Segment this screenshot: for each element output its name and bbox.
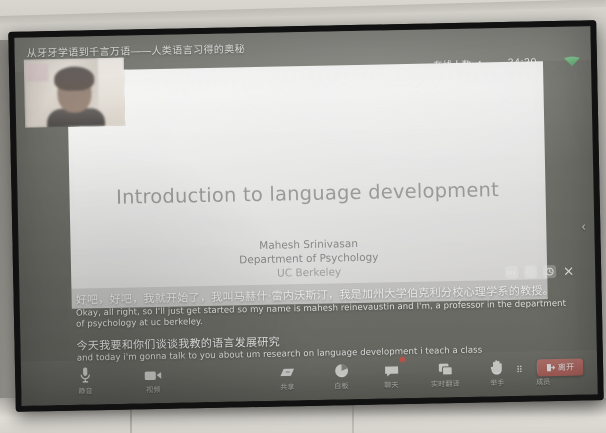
participant-video-tile[interactable] bbox=[24, 58, 125, 128]
settings-gear-icon[interactable] bbox=[524, 265, 537, 278]
close-icon[interactable] bbox=[562, 265, 575, 278]
subtitle-size-icon[interactable] bbox=[505, 266, 518, 279]
toolbar-label: 聊天 bbox=[363, 380, 419, 391]
gear-glyph bbox=[526, 267, 535, 276]
toolbar-label: 视频 bbox=[125, 385, 181, 396]
toolbar-label: 静音 bbox=[57, 386, 113, 397]
screen: 从牙牙学语到千言万语——人类语言习得的奥秘 在线人数: 4 34:30 Intr… bbox=[14, 26, 597, 405]
subtitle-size-glyph bbox=[507, 269, 516, 275]
video-overlay bbox=[24, 58, 125, 128]
caption-toolbar bbox=[505, 265, 575, 279]
slide-title: Introduction to language development bbox=[69, 177, 545, 210]
history-clock-icon[interactable] bbox=[543, 265, 556, 278]
meeting-title: 从牙牙学语到千言万语——人类语言习得的奥秘 bbox=[27, 40, 246, 59]
slide-subtitle-block: Mahesh Srinivasan Department of Psycholo… bbox=[70, 233, 547, 285]
wall-seam bbox=[352, 404, 354, 433]
clock-glyph bbox=[545, 267, 554, 276]
toolbar-label: 成员 bbox=[515, 377, 571, 388]
toolbar-label: 共享 bbox=[259, 382, 315, 393]
close-glyph bbox=[564, 267, 573, 276]
toolbar-label: 白板 bbox=[313, 381, 369, 392]
resize-handle-icon[interactable]: ⠿ bbox=[516, 365, 525, 374]
monitor: Rodleaf 从牙牙学语到千言万语——人类语言习得的奥秘 在线人数: 4 34… bbox=[8, 20, 604, 412]
live-caption-panel[interactable]: 好吧，好吧，我就开始了，我叫马赫什·雷内沃斯汀，我是加州大学伯克利分校心理学系的… bbox=[67, 279, 577, 381]
toolbar-label: 实时翻译 bbox=[417, 379, 473, 390]
wifi-icon bbox=[563, 55, 581, 68]
chevron-left-icon[interactable]: ‹ bbox=[577, 212, 591, 238]
room-photo: Rodleaf 从牙牙学语到千言万语——人类语言习得的奥秘 在线人数: 4 34… bbox=[0, 0, 606, 433]
shared-slide[interactable]: Introduction to language development Mah… bbox=[67, 61, 548, 309]
